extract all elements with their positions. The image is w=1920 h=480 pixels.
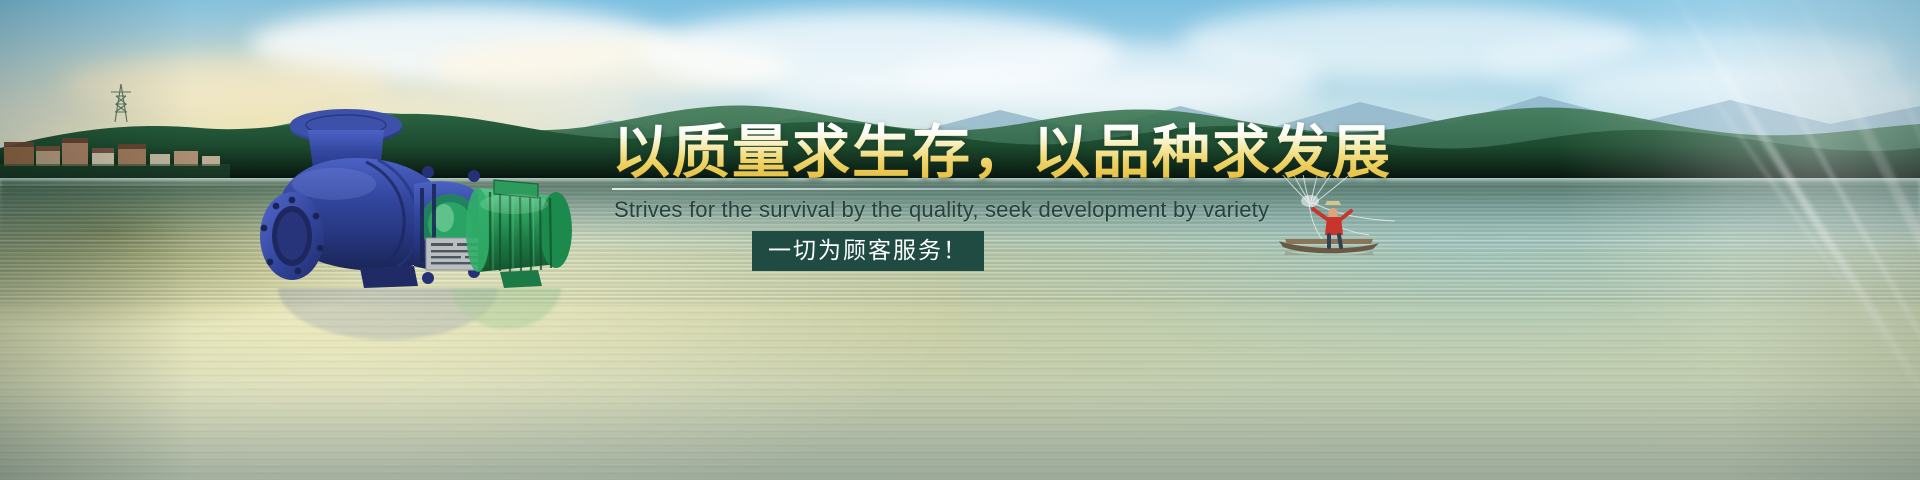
service-slogan-badge: 一切为顾客服务！ (752, 231, 984, 271)
headline-divider (612, 188, 1172, 190)
transmission-tower-icon (108, 82, 134, 124)
banner-headline: 以质量求生存，以品种求发展 (612, 122, 1512, 184)
hero-banner: 以质量求生存，以品种求发展 Strives for the survival b… (0, 0, 1920, 480)
pump-water-reflection (238, 288, 588, 408)
banner-subtitle: Strives for the survival by the quality,… (614, 197, 1512, 223)
centrifugal-pump-product-image (238, 96, 588, 291)
banner-copy-block: 以质量求生存，以品种求发展 Strives for the survival b… (612, 122, 1512, 271)
